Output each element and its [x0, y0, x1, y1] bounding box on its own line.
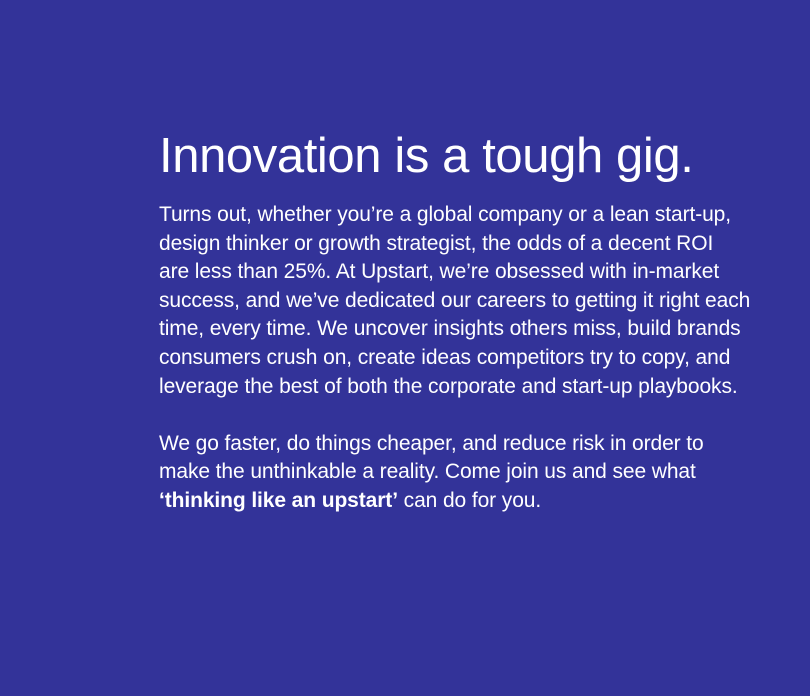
text-line: ‘thinking like an upstart’ can do for yo… — [159, 487, 779, 516]
text-line: We go faster, do things cheaper, and red… — [159, 430, 779, 459]
text-line: success, and we’ve dedicated our careers… — [159, 287, 779, 316]
closing-paragraph: We go faster, do things cheaper, and red… — [159, 430, 779, 516]
text-line: design thinker or growth strategist, the… — [159, 230, 779, 259]
text-line: are less than 25%. At Upstart, we’re obs… — [159, 258, 779, 287]
content-block: Innovation is a tough gig. Turns out, wh… — [159, 128, 779, 516]
emphasis-phrase: ‘thinking like an upstart’ — [159, 489, 398, 512]
body-copy: Turns out, whether you’re a global compa… — [159, 201, 779, 516]
slide-canvas: Innovation is a tough gig. Turns out, wh… — [0, 0, 810, 696]
text-line: leverage the best of both the corporate … — [159, 373, 779, 402]
intro-paragraph: Turns out, whether you’re a global compa… — [159, 201, 779, 401]
page-title: Innovation is a tough gig. — [159, 128, 779, 184]
text-line: Turns out, whether you’re a global compa… — [159, 201, 779, 230]
text-line: make the unthinkable a reality. Come joi… — [159, 458, 779, 487]
text-line: consumers crush on, create ideas competi… — [159, 344, 779, 373]
text-line: time, every time. We uncover insights ot… — [159, 315, 779, 344]
